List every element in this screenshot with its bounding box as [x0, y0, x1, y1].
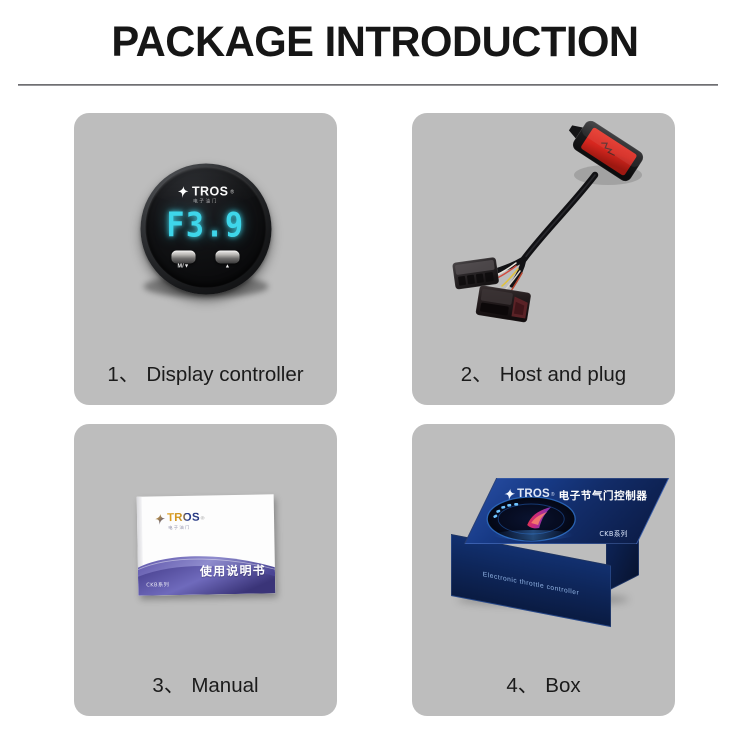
retail-box: Electronic throttle controller [451, 478, 637, 602]
manual-brand-mark: ® [200, 515, 204, 521]
manual-series-code: CKB系列 [146, 581, 169, 588]
panel-caption: 4、Box [412, 668, 675, 698]
panel-label: Host and plug [500, 363, 627, 386]
title-divider [18, 84, 718, 86]
box-brand-row: TROS ® [503, 488, 554, 501]
panel-display-controller[interactable]: TROS ® 电子油门 F3.9 M/▼ [74, 113, 337, 405]
box-brand-text: TROS [517, 489, 550, 501]
controller-brand-row: TROS ® [145, 186, 266, 199]
controller-brand-text: TROS [192, 186, 228, 199]
controller-brand-subtitle: 电子油门 [145, 199, 266, 205]
page-title: PACKAGE INTRODUCTION [11, 18, 739, 67]
up-button-cap[interactable] [216, 251, 240, 264]
box-front-face: Electronic throttle controller [451, 534, 611, 627]
led-display-value: F3.9 [145, 207, 266, 246]
panel-grid: TROS ® 电子油门 F3.9 M/▼ [0, 112, 750, 718]
xtros-star-icon [153, 513, 165, 525]
box-image: Electronic throttle controller [412, 424, 675, 656]
panel-index: 1、 [107, 363, 139, 386]
panel-index: 3、 [152, 674, 184, 697]
manual-image: TROS ® 电子油门 [74, 424, 337, 656]
host-and-plug-image [412, 113, 675, 345]
package-introduction-page: PACKAGE INTRODUCTION TROS [0, 0, 750, 750]
box-brand-mark: ® [550, 492, 554, 498]
box-top-face: TROS ® 电子节气门控制器 CKB系列 [464, 478, 669, 544]
manual-brand-text: TROS [166, 512, 199, 524]
host-harness-illustration [412, 113, 675, 345]
panel-label: Manual [191, 674, 258, 697]
up-button-label: ▲ [225, 265, 231, 270]
controller-button-row: M/▼ ▲ [145, 251, 266, 270]
manual-title-zh: 使用说明书 [199, 561, 265, 579]
controller-face: TROS ® 电子油门 F3.9 M/▼ [145, 167, 266, 288]
panel-caption: 3、Manual [74, 668, 337, 698]
controller-brand-mark: ® [230, 189, 234, 195]
panel-caption: 1、Display controller [74, 357, 337, 387]
panel-label: Display controller [146, 363, 303, 386]
panel-host-and-plug[interactable]: 2、Host and plug [412, 113, 675, 405]
panel-caption: 2、Host and plug [412, 357, 675, 387]
xtros-star-icon [503, 488, 516, 501]
panel-manual[interactable]: TROS ® 电子油门 [74, 424, 337, 716]
panel-index: 2、 [461, 363, 493, 386]
connector-b [475, 285, 531, 323]
box-title-en: Electronic throttle controller [452, 565, 610, 603]
manual-booklet: TROS ® 电子油门 [136, 494, 275, 595]
mode-down-button[interactable]: M/▼ [172, 251, 196, 270]
manual-brand-subtitle: 电子油门 [168, 524, 190, 530]
controller-rim: TROS ® 电子油门 F3.9 M/▼ [140, 164, 271, 295]
panel-label: Box [545, 674, 580, 697]
mode-down-button-cap[interactable] [172, 251, 196, 264]
box-series-code: CKB系列 [599, 528, 627, 538]
xtros-star-icon [177, 186, 190, 199]
up-button[interactable]: ▲ [216, 251, 240, 270]
manual-brand-row: TROS ® [153, 512, 204, 525]
connector-a [452, 257, 499, 290]
box-title-zh: 电子节气门控制器 [558, 488, 647, 503]
panel-box[interactable]: Electronic throttle controller [412, 424, 675, 716]
mode-down-button-label: M/▼ [178, 265, 190, 270]
display-controller-image: TROS ® 电子油门 F3.9 M/▼ [74, 113, 337, 345]
panel-index: 4、 [506, 674, 538, 697]
controller-device: TROS ® 电子油门 F3.9 M/▼ [140, 164, 271, 295]
